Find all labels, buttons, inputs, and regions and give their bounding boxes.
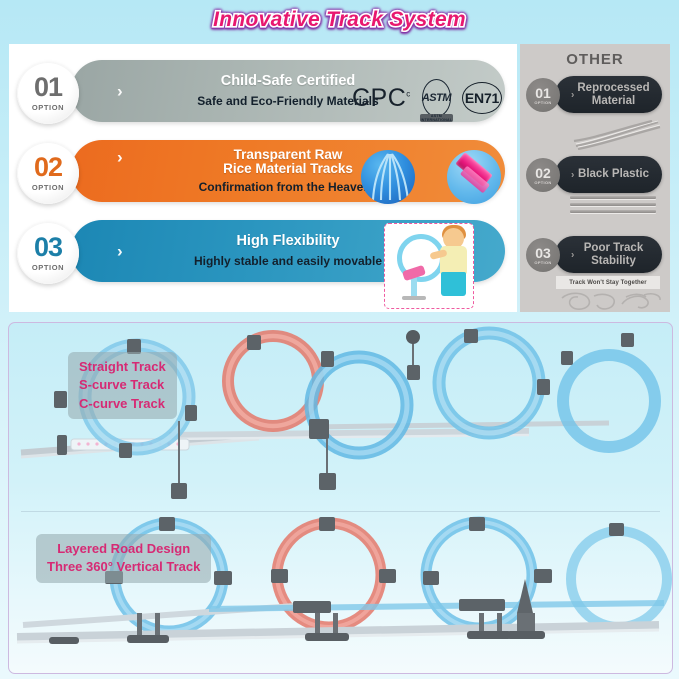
other-row-01: 01 OPTION › Reprocessed Material [520, 74, 670, 116]
option-label: OPTION [32, 263, 64, 272]
page-title: Innovative Track System [213, 8, 466, 32]
other-badge-02: 02 OPTION [526, 158, 560, 192]
toy-track-base [402, 296, 426, 300]
chevron-right-icon: › [571, 89, 574, 100]
certification-logos: CPCc ASTM ASTM INTERNATIONAL EN71 [352, 76, 502, 120]
other-text-line2: Material [577, 95, 649, 107]
black-plastic-rods-icon [570, 196, 656, 220]
other-number: 03 [535, 246, 551, 260]
callout-line: Layered Road Design [47, 540, 200, 558]
rod [570, 196, 656, 199]
chevron-right-icon: › [117, 243, 123, 260]
astm-label: ASTM [420, 77, 453, 119]
chevron-right-icon: › [117, 149, 123, 166]
other-text: Reprocessed Material [567, 82, 649, 106]
cone-stem [517, 613, 535, 633]
other-comparison-panel: OTHER 01 OPTION › Reprocessed Material 0… [520, 44, 670, 312]
other-option-label: OPTION [534, 100, 551, 105]
astm-certification-logo: ASTM ASTM INTERNATIONAL [420, 77, 453, 119]
option-badge-01: 01 OPTION [17, 62, 79, 124]
callout-track-types: Straight Track S-curve Track C-curve Tra… [68, 352, 177, 419]
option-label: OPTION [32, 183, 64, 192]
title-bar: Innovative Track System [0, 0, 679, 40]
other-row-02: 02 OPTION › Black Plastic [520, 154, 670, 196]
other-text: Poor Track Stability [574, 242, 643, 266]
option-badge-02: 02 OPTION [17, 142, 79, 204]
other-bubble-01: › Reprocessed Material [555, 76, 662, 113]
callout-layered-road: Layered Road Design Three 360° Vertical … [36, 534, 211, 583]
cpc-certification-logo: CPCc [352, 84, 411, 113]
option-number: 03 [34, 234, 62, 261]
photo-divider [21, 511, 660, 512]
track-ball [406, 330, 420, 344]
callout-line: Three 360° Vertical Track [47, 558, 200, 576]
feature-row-02: 02 OPTION › Transparent Raw Rice Materia… [9, 136, 517, 206]
option-number: 01 [34, 74, 62, 101]
other-number: 01 [535, 86, 551, 100]
other-text-line1: Reprocessed [577, 82, 649, 94]
other-text-line1: Poor Track [584, 242, 643, 254]
feature-bubble-02: › Transparent Raw Rice Material Tracks C… [71, 140, 505, 202]
feature-subheading: Highly stable and easily movable [194, 254, 382, 268]
other-panel-title: OTHER [520, 44, 670, 68]
en71-certification-logo: EN71 [462, 82, 502, 114]
other-row-03: 03 OPTION › Poor Track Stability [520, 234, 670, 276]
astm-footer: ASTM INTERNATIONAL [420, 114, 453, 122]
option-badge-03: 03 OPTION [17, 222, 79, 284]
other-option-label: OPTION [534, 260, 551, 265]
other-caption: Track Won't Stay Together [556, 276, 660, 289]
other-badge-03: 03 OPTION [526, 238, 560, 272]
feature-heading: Child-Safe Certified [221, 74, 356, 89]
other-number: 02 [535, 166, 551, 180]
callout-line: Straight Track [79, 358, 166, 376]
other-text-line2: Stability [584, 255, 643, 267]
product-photo-flexible-tracks [361, 150, 415, 204]
rod [570, 210, 656, 213]
chevron-right-icon: › [571, 169, 574, 180]
child-playing-photo [384, 223, 474, 309]
chevron-right-icon: › [117, 83, 123, 100]
option-number: 02 [34, 154, 62, 181]
other-option-label: OPTION [534, 180, 551, 185]
rod [570, 203, 656, 206]
tangled-broken-track-icon [556, 290, 666, 314]
child-shorts [441, 272, 466, 296]
feature-heading-line1: Transparent Raw [234, 148, 343, 162]
feature-heading: High Flexibility [236, 234, 339, 249]
other-bubble-03: › Poor Track Stability [555, 236, 662, 273]
cpc-superscript: c [406, 89, 411, 98]
callout-line: C-curve Track [79, 395, 166, 413]
feature-subheading: Confirmation from the Heavens [199, 180, 378, 194]
other-bubble-02: › Black Plastic [555, 156, 662, 193]
option-label: OPTION [32, 103, 64, 112]
feature-heading-line2: Rice Material Tracks [223, 162, 353, 176]
chevron-right-icon: › [571, 249, 574, 260]
other-text: Black Plastic [568, 168, 649, 180]
product-photo-pink-track [447, 150, 501, 204]
other-badge-01: 01 OPTION [526, 78, 560, 112]
flexible-track-fan-icon [365, 152, 411, 202]
callout-line: S-curve Track [79, 376, 166, 394]
cone-base [507, 631, 545, 639]
warped-curved-tracks-icon [572, 120, 662, 150]
